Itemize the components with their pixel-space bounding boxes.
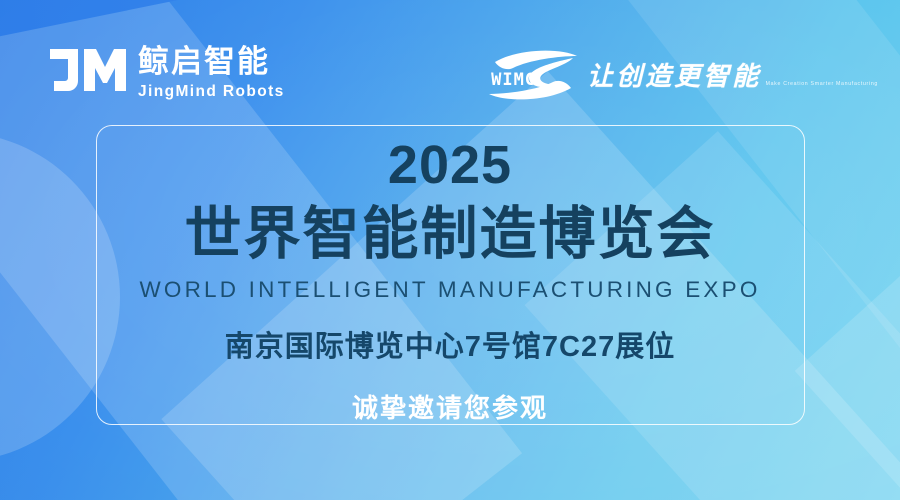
jm-monogram-icon: [48, 47, 126, 98]
invitation-text: 诚挚邀请您参观: [0, 388, 900, 425]
wimc-swoosh-icon: WIMC: [485, 44, 581, 106]
event-title-en: WORLD INTELLIGENT MANUFACTURING EXPO: [0, 277, 900, 303]
event-title-cn: 世界智能制造博览会: [0, 204, 900, 264]
company-logo-jingmind: 鲸启智能 JingMind Robots: [48, 46, 285, 100]
top-diagonal-wedge: [0, 0, 900, 40]
event-logo-wimc: WIMC 让创造更智能 Make Creation Smarter Manufa…: [485, 44, 878, 106]
wimc-acronym: WIMC: [491, 70, 536, 90]
venue-booth-info: 南京国际博览中心7号馆7C27展位: [0, 323, 900, 365]
event-year: 2025: [0, 138, 900, 192]
expo-invitation-banner: 鲸启智能 JingMind Robots WIMC 让创造更智能 Make Cr…: [0, 0, 900, 500]
company-name-block: 鲸启智能 JingMind Robots: [138, 46, 285, 100]
company-name-cn: 鲸启智能: [138, 46, 285, 77]
wimc-slogan-cn: 让创造更智能: [587, 62, 761, 92]
wimc-slogan-block: 让创造更智能 Make Creation Smarter Manufacturi…: [587, 56, 878, 95]
company-name-en: JingMind Robots: [138, 84, 285, 100]
wimc-slogan-en: Make Creation Smarter Manufacturing: [766, 81, 878, 87]
headline-block: 2025 世界智能制造博览会 WORLD INTELLIGENT MANUFAC…: [0, 138, 900, 425]
